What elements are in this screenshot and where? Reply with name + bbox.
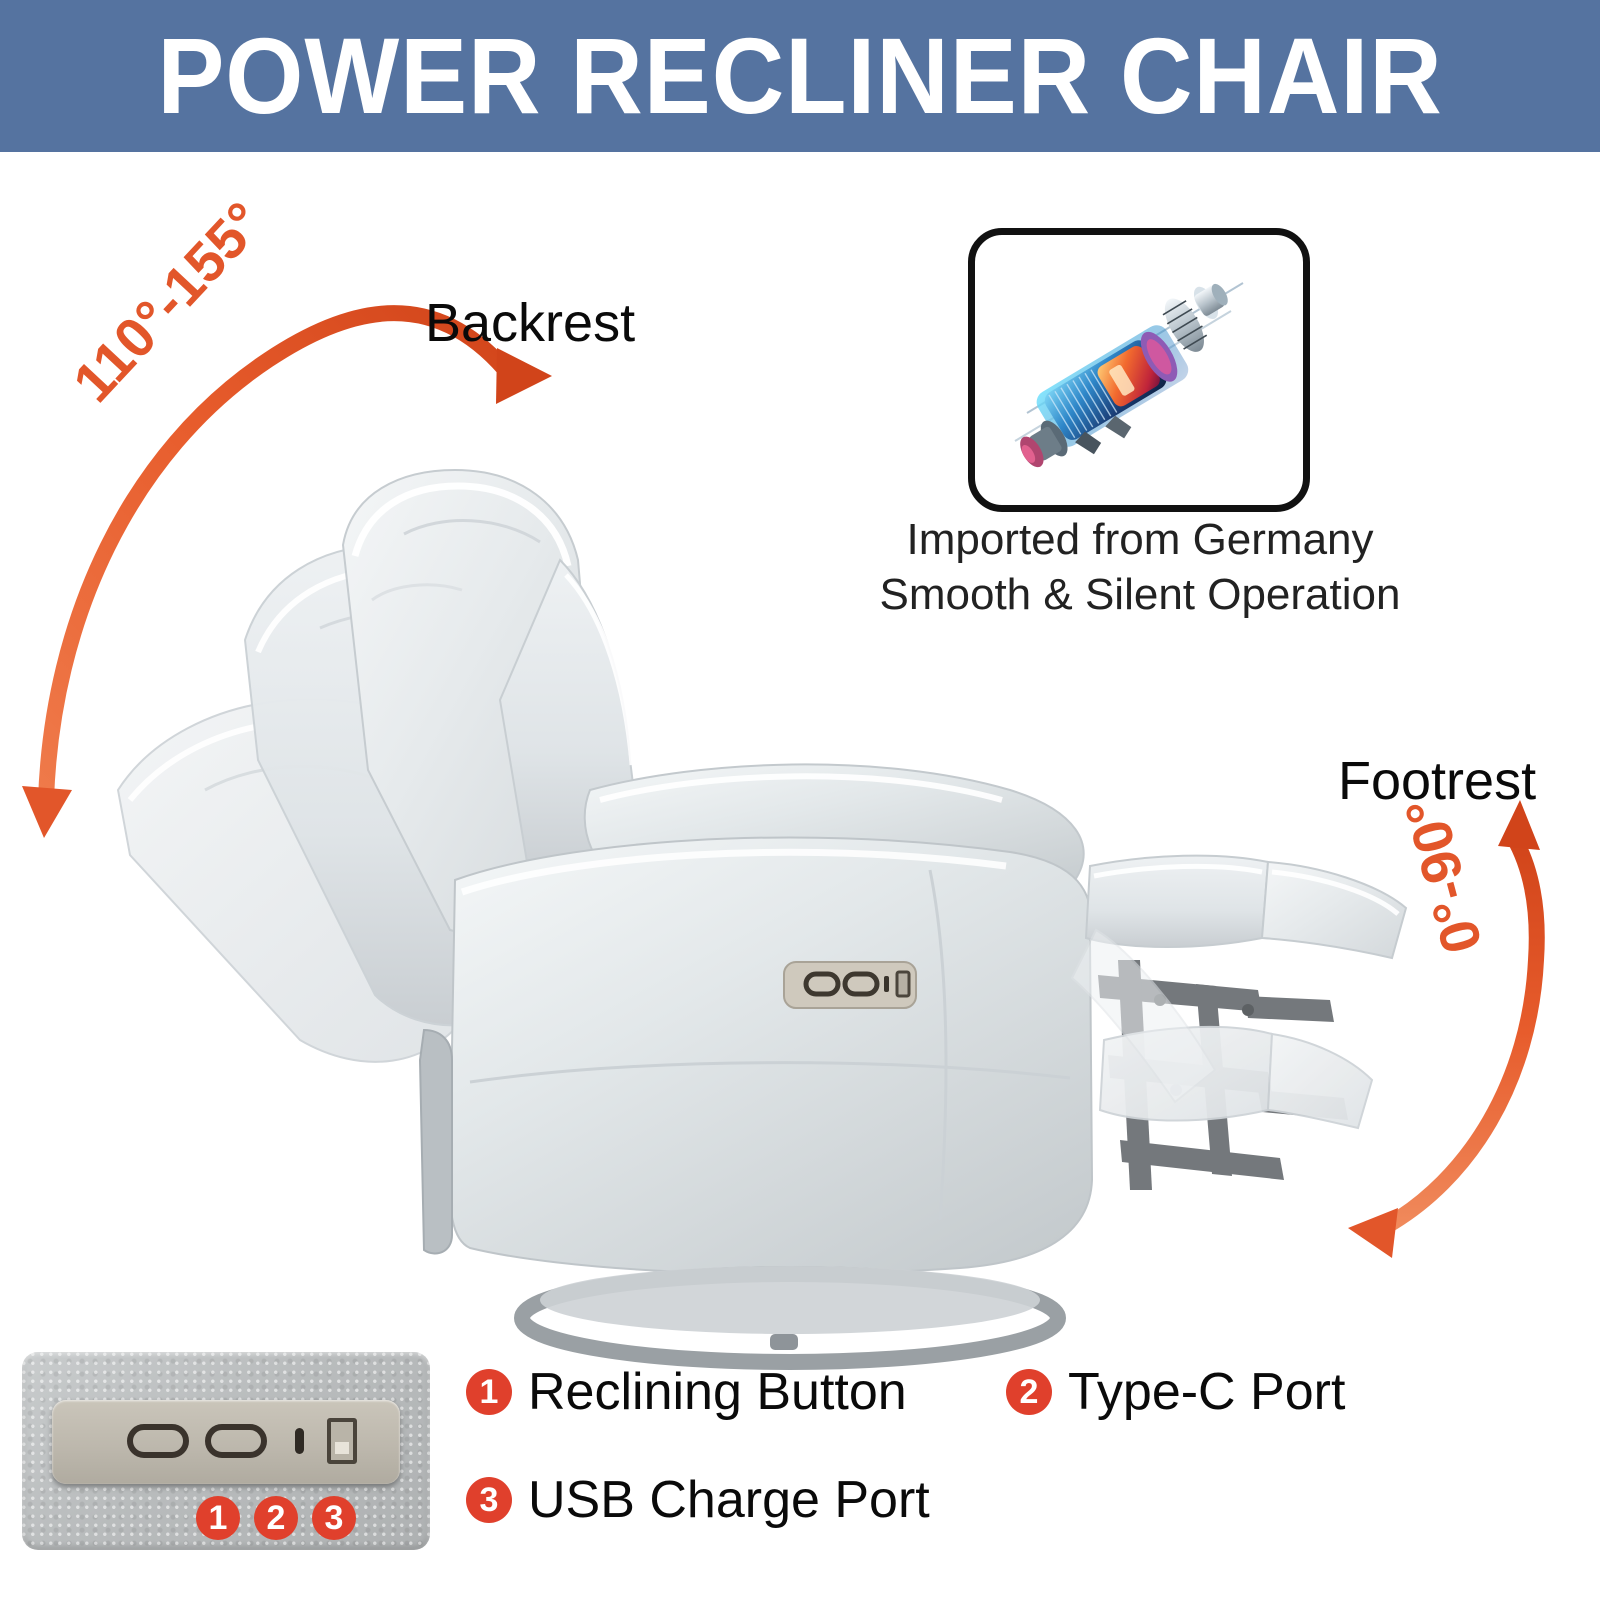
legend-item-3: 3 USB Charge Port <box>466 1470 930 1530</box>
chair-side-body <box>450 837 1092 1274</box>
usb-charge-port[interactable] <box>327 1418 357 1464</box>
panel-badge-2: 2 <box>254 1496 298 1540</box>
reclining-button-right[interactable] <box>205 1424 267 1458</box>
swivel-base <box>522 1266 1058 1362</box>
motor-caption-line-2: Smooth & Silent Operation <box>860 567 1420 622</box>
infographic-canvas: POWER RECLINER CHAIR <box>0 0 1600 1600</box>
chair-back-flap <box>420 1030 452 1254</box>
legend-label-1: Reclining Button <box>528 1362 907 1422</box>
reclining-button-left[interactable] <box>127 1424 189 1458</box>
legend-label-3: USB Charge Port <box>528 1470 930 1530</box>
legend-badge-1: 1 <box>466 1369 512 1415</box>
motor-caption-line-1: Imported from Germany <box>860 512 1420 567</box>
motor-inset-box <box>968 228 1310 512</box>
control-panel-bezel <box>52 1400 400 1484</box>
footrest-extended-upper <box>1086 856 1406 958</box>
panel-badge-3: 3 <box>312 1496 356 1540</box>
electric-motor-icon <box>975 235 1303 505</box>
motor-caption: Imported from Germany Smooth & Silent Op… <box>860 512 1420 623</box>
legend-badge-2: 2 <box>1006 1369 1052 1415</box>
chair-control-panel <box>784 962 916 1008</box>
legend-item-1: 1 Reclining Button <box>466 1362 907 1422</box>
legend-label-2: Type-C Port <box>1068 1362 1345 1422</box>
type-c-port[interactable] <box>295 1428 304 1454</box>
backrest-label: Backrest <box>425 292 635 354</box>
legend-badge-3: 3 <box>466 1477 512 1523</box>
legend-item-2: 2 Type-C Port <box>1006 1362 1345 1422</box>
control-panel-closeup: 1 2 3 <box>22 1352 430 1550</box>
panel-badge-1: 1 <box>196 1496 240 1540</box>
